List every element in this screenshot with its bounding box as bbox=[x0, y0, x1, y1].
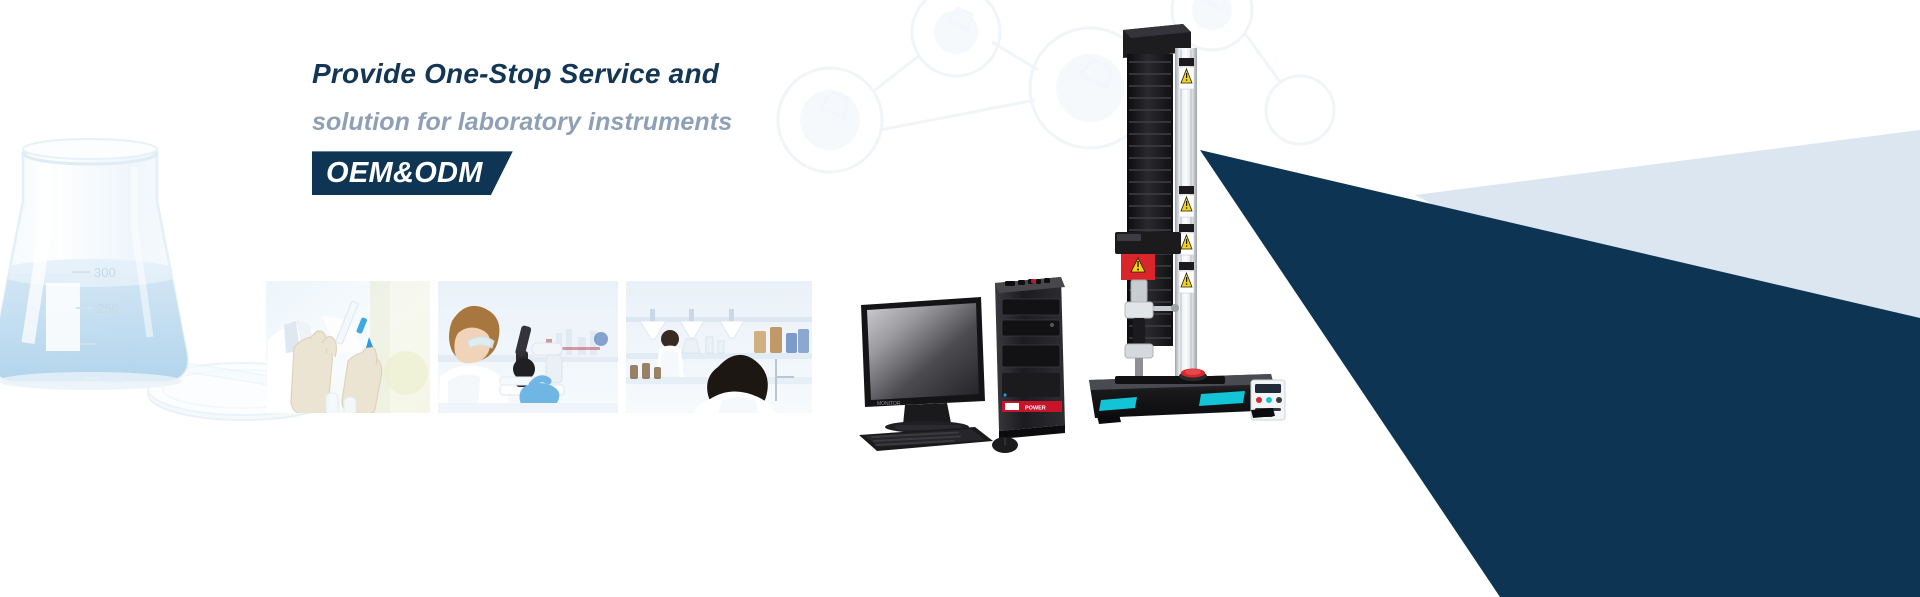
monitor: MONITOR bbox=[861, 297, 985, 433]
tester-crosshead bbox=[1115, 232, 1181, 280]
tester-control-panel bbox=[1251, 380, 1285, 420]
tester-grips bbox=[1125, 280, 1179, 380]
photo-microscope bbox=[438, 281, 618, 413]
hero-subline: solution for laboratory instruments bbox=[312, 108, 872, 136]
triangle-light bbox=[1415, 130, 1920, 470]
photo-pipetting bbox=[266, 281, 430, 413]
erlenmeyer-flask: 300 250 200 150 bbox=[0, 139, 200, 395]
warning-labels bbox=[1179, 58, 1194, 293]
universal-testing-machine bbox=[1075, 18, 1295, 463]
keyboard bbox=[859, 427, 993, 451]
tester-column-silver bbox=[1175, 48, 1197, 378]
svg-text:POWER: POWER bbox=[1025, 406, 1046, 412]
emergency-stop-button bbox=[1179, 369, 1207, 382]
oem-odm-badge-wrap: OEM&ODM bbox=[312, 151, 513, 195]
photo-lab-workers bbox=[626, 281, 812, 413]
tester-top-cap bbox=[1123, 24, 1191, 58]
tester-base bbox=[1089, 369, 1285, 425]
triangle-dark bbox=[1200, 150, 1920, 597]
svg-text:300: 300 bbox=[94, 265, 116, 280]
lab-photo-strip bbox=[266, 281, 812, 413]
computer-tower: POWER bbox=[995, 277, 1065, 439]
svg-text:200: 200 bbox=[100, 337, 122, 352]
tester-column-black bbox=[1127, 54, 1173, 346]
svg-text:150: 150 bbox=[103, 371, 125, 386]
hero-copy: Provide One-Stop Service and solution fo… bbox=[312, 58, 872, 195]
decorative-triangles bbox=[1200, 0, 1920, 597]
hero-headline: Provide One-Stop Service and bbox=[312, 58, 872, 89]
svg-text:MONITOR: MONITOR bbox=[877, 401, 901, 407]
oem-odm-badge[interactable]: OEM&ODM bbox=[312, 151, 513, 195]
desktop-computer: MONITOR bbox=[855, 275, 1115, 460]
mouse bbox=[992, 437, 1018, 453]
svg-text:250: 250 bbox=[97, 301, 119, 316]
hero-banner: 300 250 200 150 Provide One-Stop Service… bbox=[0, 0, 1920, 597]
oem-odm-badge-label: OEM&ODM bbox=[326, 157, 483, 190]
